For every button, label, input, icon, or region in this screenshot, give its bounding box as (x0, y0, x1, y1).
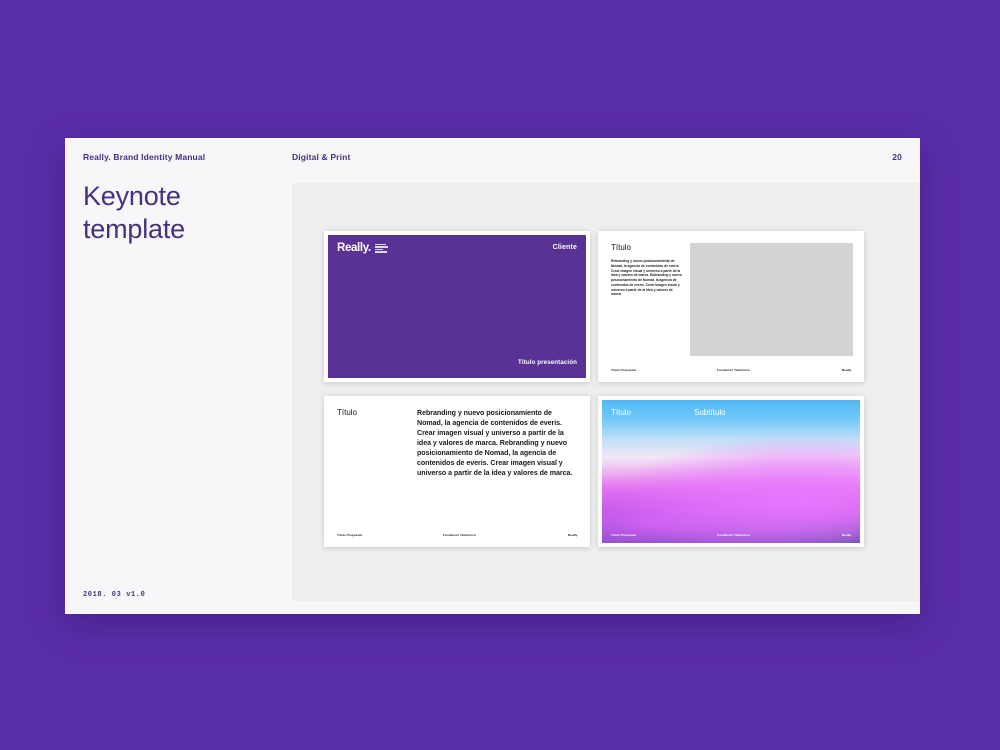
really-logo: Really. (337, 243, 388, 255)
slide-text-template[interactable]: Título Rebranding y nuevo posicionamient… (324, 396, 590, 547)
footer-right: Really. (813, 533, 852, 537)
slide-footer: Título Propuesta Fundación Telefónica Re… (611, 368, 852, 372)
footer-center: Fundación Telefónica (717, 533, 813, 537)
slide-text-image-template[interactable]: Título Rebranding y nuevo posicionamient… (598, 231, 864, 382)
slide-gradient-template[interactable]: Título Subtítulo Título Propuesta Fundac… (598, 396, 864, 547)
footer-right: Really. (539, 533, 578, 537)
page-number: 20 (892, 152, 902, 162)
footer-center: Fundación Telefónica (717, 368, 813, 372)
slide-body-text: Rebranding y nuevo posicionamiento de No… (417, 408, 575, 478)
slide-heading: Título (611, 408, 631, 417)
slide-gradient-inner: Título Subtítulo Título Propuesta Fundac… (602, 400, 860, 543)
slide-subheading: Subtítulo (694, 408, 726, 417)
footer-left: Título Propuesta (337, 533, 443, 537)
gradient-background (602, 400, 860, 543)
logo-tagline-mark (375, 244, 388, 254)
cover-presentation-title: Título presentación (518, 359, 577, 366)
slide-cover-template[interactable]: Really. Cliente Título presentación (324, 231, 590, 382)
cover-background (328, 235, 586, 378)
manual-title: Really. Brand Identity Manual (83, 152, 205, 162)
image-placeholder (690, 243, 853, 356)
footer-right: Really. (813, 368, 852, 372)
footer-center: Fundación Telefónica (443, 533, 539, 537)
document-version: 2018. 03 v1.0 (83, 591, 145, 599)
slide-body-text: Rebranding y nuevo posicionamiento de No… (611, 259, 683, 297)
slide-footer: Título Propuesta Fundación Telefónica Re… (611, 533, 852, 537)
footer-left: Título Propuesta (611, 533, 717, 537)
page-title: Keynotetemplate (83, 180, 283, 246)
page-header: Really. Brand Identity Manual Digital & … (65, 138, 920, 178)
slide-cover-inner: Really. Cliente Título presentación (328, 235, 586, 378)
footer-left: Título Propuesta (611, 368, 717, 372)
brand-manual-page: Really. Brand Identity Manual Digital & … (65, 138, 920, 614)
section-label: Digital & Print (292, 152, 350, 162)
slide-footer: Título Propuesta Fundación Telefónica Re… (337, 533, 578, 537)
slide-examples-panel: Really. Cliente Título presentación Títu… (292, 183, 920, 601)
slide-heading: Título (611, 243, 631, 252)
logo-wordmark: Really. (337, 243, 371, 255)
slide-text-inner: Título Rebranding y nuevo posicionamient… (328, 400, 586, 543)
cover-client-label: Cliente (553, 244, 577, 251)
slide-heading: Título (337, 408, 357, 417)
slide-text-image-inner: Título Rebranding y nuevo posicionamient… (602, 235, 860, 378)
